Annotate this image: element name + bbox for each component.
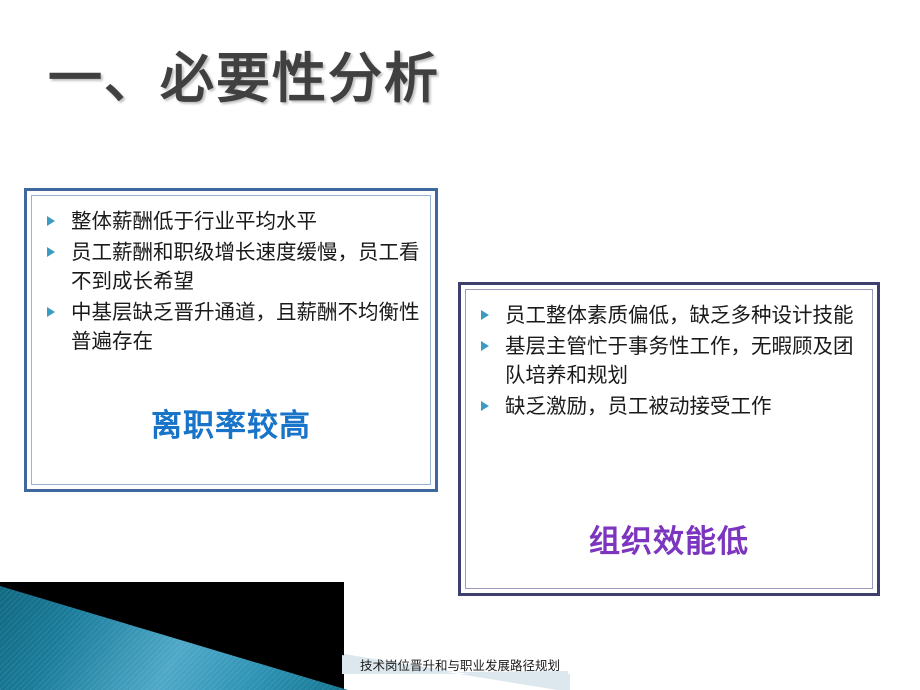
bullet-list-turnover: 整体薪酬低于行业平均水平 员工薪酬和职级增长速度缓慢，员工看不到成长希望 中基层… — [41, 207, 421, 359]
triangle-bullet-icon — [481, 401, 489, 411]
list-item: 基层主管忙于事务性工作，无暇顾及团队培养和规划 — [475, 332, 863, 390]
list-item-label: 缺乏激励，员工被动接受工作 — [505, 394, 772, 418]
list-item: 整体薪酬低于行业平均水平 — [41, 207, 421, 236]
triangle-bullet-icon — [47, 216, 55, 226]
bullet-list-organization: 员工整体素质偏低，缺乏多种设计技能 基层主管忙于事务性工作，无暇顾及团队培养和规… — [475, 301, 863, 423]
conclusion-text-organization: 组织效能低 — [475, 516, 863, 561]
presentation-slide: 一、必要性分析 整体薪酬低于行业平均水平 员工薪酬和职级增长速度缓慢，员工看不到… — [0, 0, 920, 690]
list-item: 员工薪酬和职级增长速度缓慢，员工看不到成长希望 — [41, 238, 421, 296]
list-item-label: 员工整体素质偏低，缺乏多种设计技能 — [505, 303, 854, 327]
list-item: 员工整体素质偏低，缺乏多种设计技能 — [475, 301, 863, 330]
list-item: 中基层缺乏晋升通道，且薪酬不均衡性普遍存在 — [41, 298, 421, 356]
triangle-bullet-icon — [47, 307, 55, 317]
callout-box-turnover: 整体薪酬低于行业平均水平 员工薪酬和职级增长速度缓慢，员工看不到成长希望 中基层… — [24, 188, 438, 492]
conclusion-text-turnover: 离职率较高 — [41, 400, 421, 445]
page-title: 一、必要性分析 — [48, 48, 440, 110]
list-item-label: 基层主管忙于事务性工作，无暇顾及团队培养和规划 — [505, 334, 854, 387]
list-item-label: 员工薪酬和职级增长速度缓慢，员工看不到成长希望 — [71, 240, 420, 293]
list-item-label: 中基层缺乏晋升通道，且薪酬不均衡性普遍存在 — [71, 300, 420, 353]
triangle-bullet-icon — [47, 247, 55, 257]
list-item-label: 整体薪酬低于行业平均水平 — [71, 209, 317, 233]
callout-content-organization: 员工整体素质偏低，缺乏多种设计技能 基层主管忙于事务性工作，无暇顾及团队培养和规… — [461, 285, 877, 593]
list-item: 缺乏激励，员工被动接受工作 — [475, 392, 863, 421]
triangle-bullet-icon — [481, 341, 489, 351]
slide-footer: 技术岗位晋升和与职业发展路径规划 — [0, 655, 920, 674]
callout-content-turnover: 整体薪酬低于行业平均水平 员工薪酬和职级增长速度缓慢，员工看不到成长希望 中基层… — [27, 191, 435, 489]
callout-box-organization: 员工整体素质偏低，缺乏多种设计技能 基层主管忙于事务性工作，无暇顾及团队培养和规… — [458, 282, 880, 596]
triangle-bullet-icon — [481, 310, 489, 320]
